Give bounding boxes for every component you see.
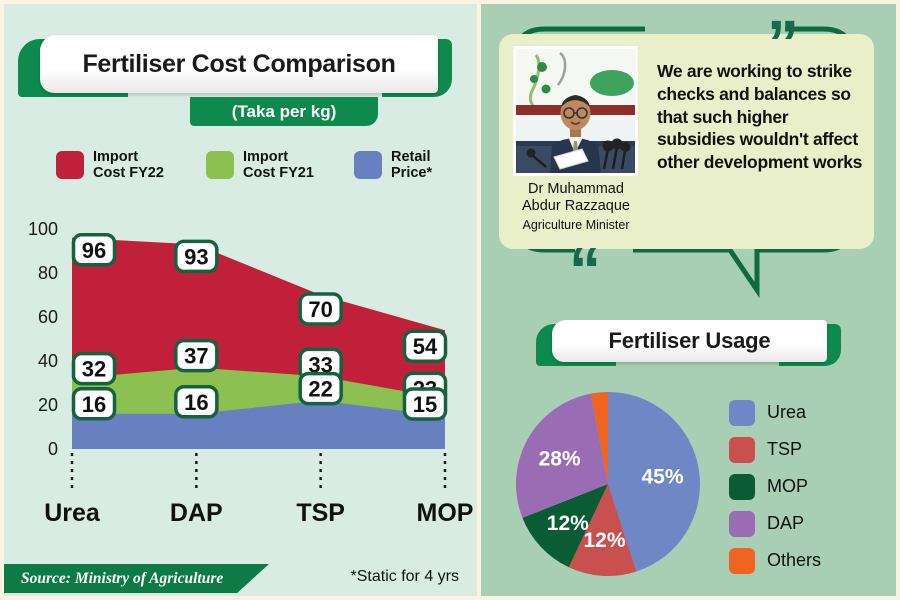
pie-legend-item-urea: Urea [729, 394, 889, 431]
data-label-import-cost-fy22-tsp: 70 [300, 294, 341, 324]
y-axis-tick-label: 20 [38, 395, 58, 415]
source-text: Source: Ministry of Agriculture [21, 570, 223, 588]
pie-value-label-dap: 28% [539, 447, 581, 470]
area-chart-x-axis: UreaDAPTSPMOP [44, 453, 473, 527]
area-chart-svg: 020406080100 UreaDAPTSPMOP 9693705432373… [4, 209, 477, 559]
legend-label-import-fy21: Import Cost FY21 [243, 149, 314, 181]
data-label-import-cost-fy21-dap-text: 37 [184, 344, 208, 369]
data-label-import-cost-fy22-urea-text: 96 [82, 238, 106, 263]
cost-chart-subtitle-tag: (Taka per kg) [190, 97, 378, 126]
legend-item-retail-price: Retail Price* [354, 149, 454, 199]
quote-text: We are working to strike checks and bala… [657, 60, 869, 174]
x-axis-label-dap: DAP [170, 499, 223, 527]
cost-chart-subtitle: (Taka per kg) [232, 102, 337, 122]
legend-item-import-fy22: Import Cost FY22 [56, 149, 206, 199]
data-label-import-cost-fy22-dap-text: 93 [184, 244, 208, 269]
pie-legend-item-dap: DAP [729, 505, 889, 542]
pie-legend-item-tsp: TSP [729, 431, 889, 468]
cost-comparison-area-chart: 020406080100 UreaDAPTSPMOP 9693705432373… [4, 209, 477, 559]
usage-title: Fertiliser Usage [609, 328, 771, 354]
data-label-retail-price-tsp: 22 [300, 374, 341, 404]
legend-label-retail-price: Retail Price* [391, 149, 432, 181]
cost-chart-title-banner: Fertiliser Cost Comparison [18, 35, 452, 97]
data-label-retail-price-dap: 16 [176, 387, 217, 417]
close-quote-icon: ” [767, 11, 799, 75]
pie-value-label-mop: 12% [547, 512, 589, 535]
usage-banner-plate: Fertiliser Usage [552, 320, 827, 362]
speaker-name: Dr Muhammad Abdur Razzaque [505, 181, 647, 214]
infographic-canvas: Fertiliser Cost Comparison (Taka per kg)… [0, 0, 900, 600]
pie-legend-label-tsp: TSP [767, 439, 802, 460]
data-label-import-cost-fy21-urea-text: 32 [82, 357, 106, 382]
pie-legend-swatch-others [729, 548, 755, 574]
data-label-import-cost-fy21-dap: 37 [176, 341, 217, 371]
quote-and-usage-panel: Dr Muhammad Abdur Razzaque Agriculture M… [481, 4, 896, 596]
pie-legend-item-mop: MOP [729, 468, 889, 505]
speaker-photo-illustration [516, 49, 635, 173]
y-axis-tick-label: 0 [48, 439, 58, 459]
pie-legend-label-mop: MOP [767, 476, 808, 497]
data-label-import-cost-fy22-tsp-text: 70 [308, 297, 332, 322]
data-label-retail-price-urea: 16 [74, 389, 115, 419]
pie-legend-label-others: Others [767, 550, 821, 571]
fertiliser-usage-pie-chart: 45%12%12%28% [513, 389, 703, 579]
pie-value-label-tsp: 12% [583, 529, 625, 552]
data-label-retail-price-urea-text: 16 [82, 392, 106, 417]
x-axis-label-mop: MOP [417, 499, 474, 527]
legend-swatch-import-fy21 [206, 151, 234, 179]
data-label-retail-price-dap-text: 16 [184, 390, 208, 415]
cost-comparison-panel: Fertiliser Cost Comparison (Taka per kg)… [4, 4, 477, 596]
legend-swatch-retail-price [354, 151, 382, 179]
speaker-role: Agriculture Minister [505, 218, 647, 232]
x-axis-label-urea: Urea [44, 499, 101, 527]
pie-legend-swatch-mop [729, 474, 755, 500]
cost-chart-title: Fertiliser Cost Comparison [82, 50, 395, 79]
area-chart-y-axis: 020406080100 [28, 219, 58, 459]
pie-legend-swatch-urea [729, 400, 755, 426]
legend-swatch-import-fy22 [56, 151, 84, 179]
y-axis-tick-label: 80 [38, 263, 58, 283]
usage-title-banner: Fertiliser Usage [536, 320, 841, 366]
open-quote-icon: “ [569, 238, 601, 302]
footnote-static: *Static for 4 yrs [351, 568, 459, 586]
pie-legend-item-others: Others [729, 542, 889, 579]
area-chart-series [72, 238, 445, 449]
data-label-import-cost-fy22-mop-text: 54 [413, 334, 438, 359]
pie-chart-legend: UreaTSPMOPDAPOthers [729, 394, 889, 579]
speaker-photo-wrap [513, 46, 638, 176]
y-axis-tick-label: 100 [28, 219, 58, 239]
pie-legend-swatch-tsp [729, 437, 755, 463]
pie-value-label-urea: 45% [641, 465, 683, 488]
x-axis-label-tsp: TSP [296, 499, 345, 527]
data-label-retail-price-mop: 15 [405, 389, 446, 419]
data-label-retail-price-mop-text: 15 [413, 392, 437, 417]
data-label-import-cost-fy22-urea: 96 [74, 235, 115, 265]
pie-legend-label-urea: Urea [767, 402, 806, 423]
y-axis-tick-label: 60 [38, 307, 58, 327]
legend-label-import-fy22: Import Cost FY22 [93, 149, 164, 181]
pie-legend-label-dap: DAP [767, 513, 804, 534]
y-axis-tick-label: 40 [38, 351, 58, 371]
speaker-photo [513, 46, 638, 176]
data-label-import-cost-fy21-urea: 32 [74, 354, 115, 384]
data-label-import-cost-fy22-dap: 93 [176, 241, 217, 271]
quote-card: Dr Muhammad Abdur Razzaque Agriculture M… [499, 34, 874, 249]
data-label-import-cost-fy22-mop: 54 [405, 331, 446, 361]
title-banner-plate: Fertiliser Cost Comparison [40, 35, 438, 93]
legend-item-import-fy21: Import Cost FY21 [206, 149, 354, 199]
source-bar: Source: Ministry of Agriculture [4, 564, 269, 593]
quote-bubble-frame: Dr Muhammad Abdur Razzaque Agriculture M… [485, 15, 883, 305]
pie-legend-swatch-dap [729, 511, 755, 537]
cost-chart-legend: Import Cost FY22 Import Cost FY21 Retail… [56, 149, 456, 199]
data-label-retail-price-tsp-text: 22 [308, 377, 332, 402]
pie-chart-svg: 45%12%12%28% [513, 389, 703, 579]
